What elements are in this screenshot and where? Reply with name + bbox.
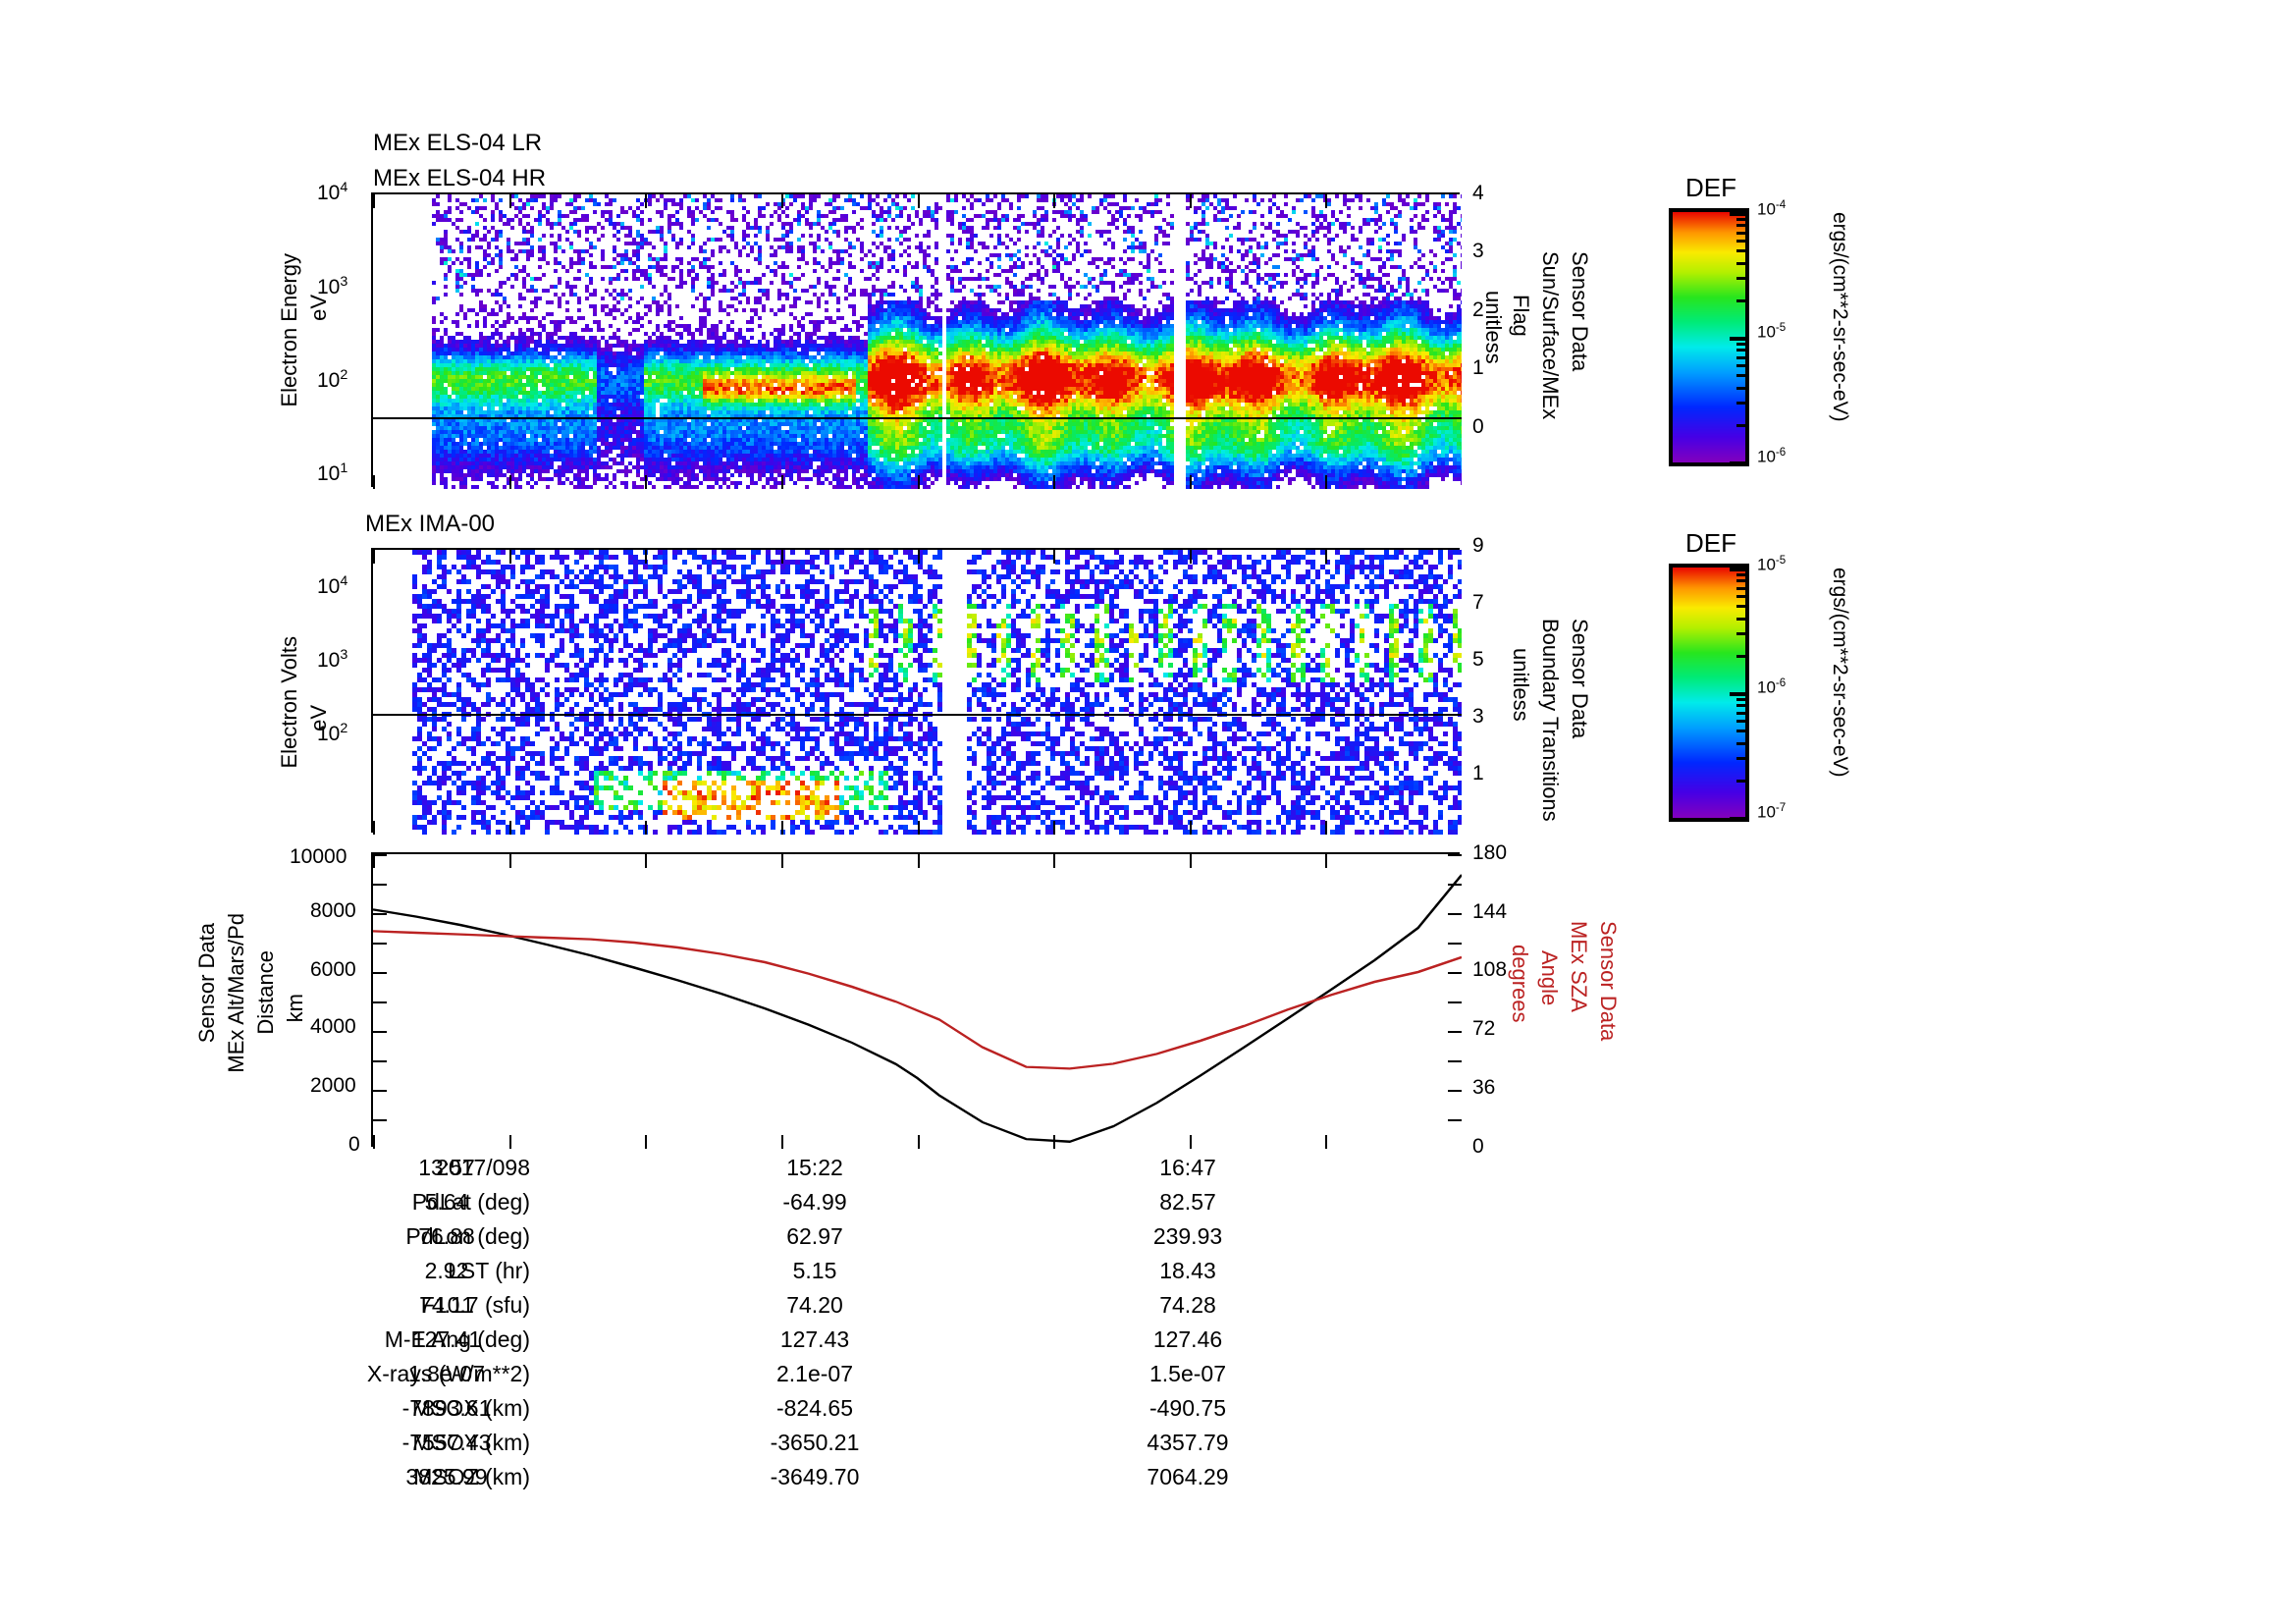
table-cell: 2.1e-07 bbox=[687, 1361, 942, 1387]
colorbar-ima-min-label: 10-7 bbox=[1757, 802, 1786, 823]
colorbar-ima bbox=[1669, 564, 1749, 822]
panel-els-title-hr: MEx ELS-04 HR bbox=[373, 165, 546, 192]
table-cell: -3649.70 bbox=[687, 1464, 942, 1490]
table-cell: 127.43 bbox=[687, 1326, 942, 1353]
info-table: 2017/098 PdLat (deg) PdLon (deg) LST (hr… bbox=[0, 1147, 2296, 1441]
panel-ima-ytick-1e4: 104 bbox=[317, 574, 347, 597]
table-cell: -490.75 bbox=[1060, 1395, 1315, 1422]
panel-els-left-axis-label: Electron Energy bbox=[277, 253, 302, 407]
colorbar-els bbox=[1669, 208, 1749, 466]
colorbar-els-mid-label: 10-5 bbox=[1757, 322, 1786, 343]
table-cell: 1.5e-07 bbox=[1060, 1361, 1315, 1387]
panel-alt-right-axis-label-4: degrees bbox=[1507, 945, 1532, 1023]
panel-els-left-axis-units: eV bbox=[306, 295, 332, 321]
panel-alt-line-plot[interactable] bbox=[373, 854, 1462, 1149]
panel-els-right-axis-label-1: Sensor Data bbox=[1567, 251, 1592, 371]
panel-ima-rtick-9: 9 bbox=[1472, 535, 1484, 556]
panel-els-ytick-1e1: 101 bbox=[317, 461, 347, 484]
table-cell: 239.93 bbox=[1060, 1223, 1315, 1250]
panel-els-right-axis-label-4: unitless bbox=[1480, 291, 1506, 364]
panel-els-spectrogram[interactable] bbox=[373, 194, 1462, 489]
table-cell: 5.64 bbox=[334, 1189, 560, 1216]
table-cell: 76.88 bbox=[334, 1223, 560, 1250]
panel-els-rtick-4: 4 bbox=[1472, 183, 1484, 203]
panel-ima-left-axis-label: Electron Volts bbox=[277, 636, 302, 769]
panel-alt-rtick-108: 108 bbox=[1472, 959, 1507, 980]
colorbar-ima-max-label: 10-5 bbox=[1757, 555, 1786, 575]
panel-els-rtick-3: 3 bbox=[1472, 241, 1484, 261]
panel-els-title-lr: MEx ELS-04 LR bbox=[373, 130, 542, 157]
table-cell: 74.11 bbox=[334, 1292, 560, 1319]
colorbar-els-units: ergs/(cm**2-sr-sec-eV) bbox=[1828, 212, 1851, 422]
panel-ima-rtick-3: 3 bbox=[1472, 706, 1484, 727]
panel-alt-right-axis-label-2: MEx SZA bbox=[1566, 921, 1591, 1012]
table-cell: -3650.21 bbox=[687, 1430, 942, 1456]
panel-alt-rtick-180: 180 bbox=[1472, 842, 1507, 863]
panel-els-ytick-1e2: 102 bbox=[317, 368, 347, 391]
colorbar-els-title: DEF bbox=[1685, 173, 1736, 203]
table-cell: 74.20 bbox=[687, 1292, 942, 1319]
table-cell: 74.28 bbox=[1060, 1292, 1315, 1319]
panel-ima-right-axis-label-1: Sensor Data bbox=[1567, 619, 1592, 738]
panel-alt-ytick-4000: 4000 bbox=[310, 1016, 356, 1037]
panel-alt-left-axis-label-1: Sensor Data bbox=[194, 923, 220, 1043]
panel-ima-ytick-1e3: 103 bbox=[317, 648, 347, 671]
panel-els-right-axis-label-2: Sun/Surface/MEx bbox=[1537, 251, 1563, 419]
panel-els-ytick-1e3: 103 bbox=[317, 275, 347, 298]
panel-ima-ytick-1e2: 102 bbox=[317, 722, 347, 744]
table-cell: 18.43 bbox=[1060, 1258, 1315, 1284]
panel-els-ytick-1e4: 104 bbox=[317, 181, 347, 203]
table-cell: 5.15 bbox=[687, 1258, 942, 1284]
table-cell: 1.8e-07 bbox=[334, 1361, 560, 1387]
panel-alt-rtick-36: 36 bbox=[1472, 1077, 1495, 1098]
panel-alt-ytick-2000: 2000 bbox=[310, 1075, 356, 1096]
panel-alt-ytick-6000: 6000 bbox=[310, 959, 356, 980]
table-cell: 13:57 bbox=[334, 1155, 560, 1181]
table-cell: -64.99 bbox=[687, 1189, 942, 1216]
panel-ima-plot-frame[interactable] bbox=[371, 548, 1460, 833]
panel-alt-right-axis-label-3: Angle bbox=[1536, 950, 1562, 1005]
panel-ima-right-axis-label-2: Boundary Transitions bbox=[1537, 619, 1563, 822]
panel-alt-right-axis-label-1: Sensor Data bbox=[1595, 921, 1621, 1041]
table-cell: 7064.29 bbox=[1060, 1464, 1315, 1490]
panel-els-right-axis-label-3: Flag bbox=[1508, 295, 1533, 337]
table-cell: 15:22 bbox=[687, 1155, 942, 1181]
panel-ima-rtick-1: 1 bbox=[1472, 763, 1484, 784]
table-cell: 127.41 bbox=[334, 1326, 560, 1353]
colorbar-els-gradient bbox=[1673, 212, 1745, 462]
panel-els-rtick-0: 0 bbox=[1472, 416, 1484, 437]
colorbar-els-max-label: 10-4 bbox=[1757, 199, 1786, 220]
colorbar-ima-mid-label: 10-6 bbox=[1757, 677, 1786, 698]
table-cell: 82.57 bbox=[1060, 1189, 1315, 1216]
table-cell: -824.65 bbox=[687, 1395, 942, 1422]
table-cell: -7893.61 bbox=[324, 1395, 569, 1422]
panel-alt-left-axis-label-4: km bbox=[283, 994, 308, 1022]
colorbar-ima-units: ergs/(cm**2-sr-sec-eV) bbox=[1828, 568, 1851, 778]
panel-ima-title: MEx IMA-00 bbox=[365, 511, 495, 538]
panel-ima-rtick-5: 5 bbox=[1472, 649, 1484, 670]
panel-alt-ytick-10000: 10000 bbox=[290, 846, 347, 867]
panel-alt-plot-frame[interactable] bbox=[371, 852, 1460, 1147]
panel-ima-spectrogram[interactable] bbox=[373, 550, 1462, 835]
panel-alt-ytick-8000: 8000 bbox=[310, 900, 356, 921]
table-cell: 4357.79 bbox=[1060, 1430, 1315, 1456]
colorbar-ima-gradient bbox=[1673, 568, 1745, 818]
panel-alt-rtick-144: 144 bbox=[1472, 901, 1507, 922]
table-cell: 127.46 bbox=[1060, 1326, 1315, 1353]
colorbar-els-min-label: 10-6 bbox=[1757, 447, 1786, 467]
table-cell: 2.92 bbox=[334, 1258, 560, 1284]
panel-ima-rtick-7: 7 bbox=[1472, 592, 1484, 613]
panel-els-plot-frame[interactable] bbox=[371, 192, 1460, 487]
table-cell: 3825.99 bbox=[334, 1464, 560, 1490]
panel-alt-left-axis-label-2: MEx Alt/Mars/Pd bbox=[224, 913, 249, 1073]
panel-alt-rtick-72: 72 bbox=[1472, 1018, 1495, 1039]
table-cell: -7557.43 bbox=[324, 1430, 569, 1456]
colorbar-ima-title: DEF bbox=[1685, 528, 1736, 559]
table-cell: 16:47 bbox=[1060, 1155, 1315, 1181]
table-cell: 62.97 bbox=[687, 1223, 942, 1250]
panel-alt-left-axis-label-3: Distance bbox=[253, 950, 279, 1035]
panel-ima-right-axis-label-3: unitless bbox=[1508, 648, 1533, 722]
